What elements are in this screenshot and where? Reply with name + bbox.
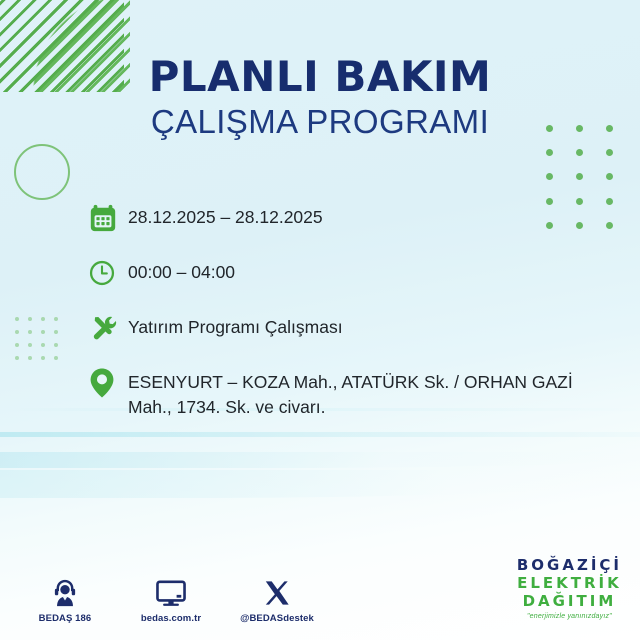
brand-line-3: DAĞITIM [517, 594, 622, 609]
contact-social[interactable]: @BEDASdestek [238, 573, 316, 624]
footer: BEDAŞ 186 bedas.com.tr [0, 554, 640, 626]
page-title: PLANLI BAKIM ÇALIŞMA PROGRAMI [0, 56, 640, 141]
detail-location-text: ESENYURT – KOZA Mah., ATATÜRK Sk. / ORHA… [128, 365, 598, 420]
headset-support-icon [49, 573, 81, 607]
contact-channels: BEDAŞ 186 bedas.com.tr [26, 573, 316, 624]
detail-time-text: 00:00 – 04:00 [128, 255, 235, 285]
detail-work-type-text: Yatırım Programı Çalışması [128, 310, 343, 340]
contact-social-label: @BEDASdestek [240, 613, 314, 624]
x-twitter-icon [263, 573, 291, 607]
contact-website-label: bedas.com.tr [141, 613, 201, 624]
tools-icon [88, 310, 128, 346]
title-primary: PLANLI BAKIM [0, 56, 640, 99]
calendar-icon [88, 200, 128, 236]
clock-icon [88, 255, 128, 291]
contact-phone[interactable]: BEDAŞ 186 [26, 573, 104, 624]
brand-line-2: ELEKTRİK [517, 576, 622, 591]
title-secondary: ÇALIŞMA PROGRAMI [0, 103, 640, 141]
location-pin-icon [88, 365, 128, 401]
circle-outline-decoration [14, 144, 70, 200]
monitor-icon [155, 573, 187, 607]
dot-grid-decoration-left [10, 312, 62, 364]
contact-website[interactable]: bedas.com.tr [132, 573, 210, 624]
brand-tagline: "enerjimizle yanınızdayız" [517, 613, 622, 620]
bedas-logo: BOĞAZİÇİ ELEKTRİK DAĞITIM "enerjimizle y… [517, 558, 622, 620]
maintenance-details: 28.12.2025 – 28.12.2025 00:00 – 04:00 [88, 200, 608, 439]
wave-band-2 [0, 452, 640, 468]
wave-band-3 [0, 470, 640, 498]
planned-maintenance-poster: PLANLI BAKIM ÇALIŞMA PROGRAMI [0, 0, 640, 640]
contact-phone-label: BEDAŞ 186 [39, 613, 92, 624]
detail-row-work-type: Yatırım Programı Çalışması [88, 310, 608, 346]
brand-line-1: BOĞAZİÇİ [517, 558, 622, 573]
detail-row-time: 00:00 – 04:00 [88, 255, 608, 291]
detail-date-text: 28.12.2025 – 28.12.2025 [128, 200, 323, 230]
detail-row-date: 28.12.2025 – 28.12.2025 [88, 200, 608, 236]
detail-row-location: ESENYURT – KOZA Mah., ATATÜRK Sk. / ORHA… [88, 365, 608, 420]
